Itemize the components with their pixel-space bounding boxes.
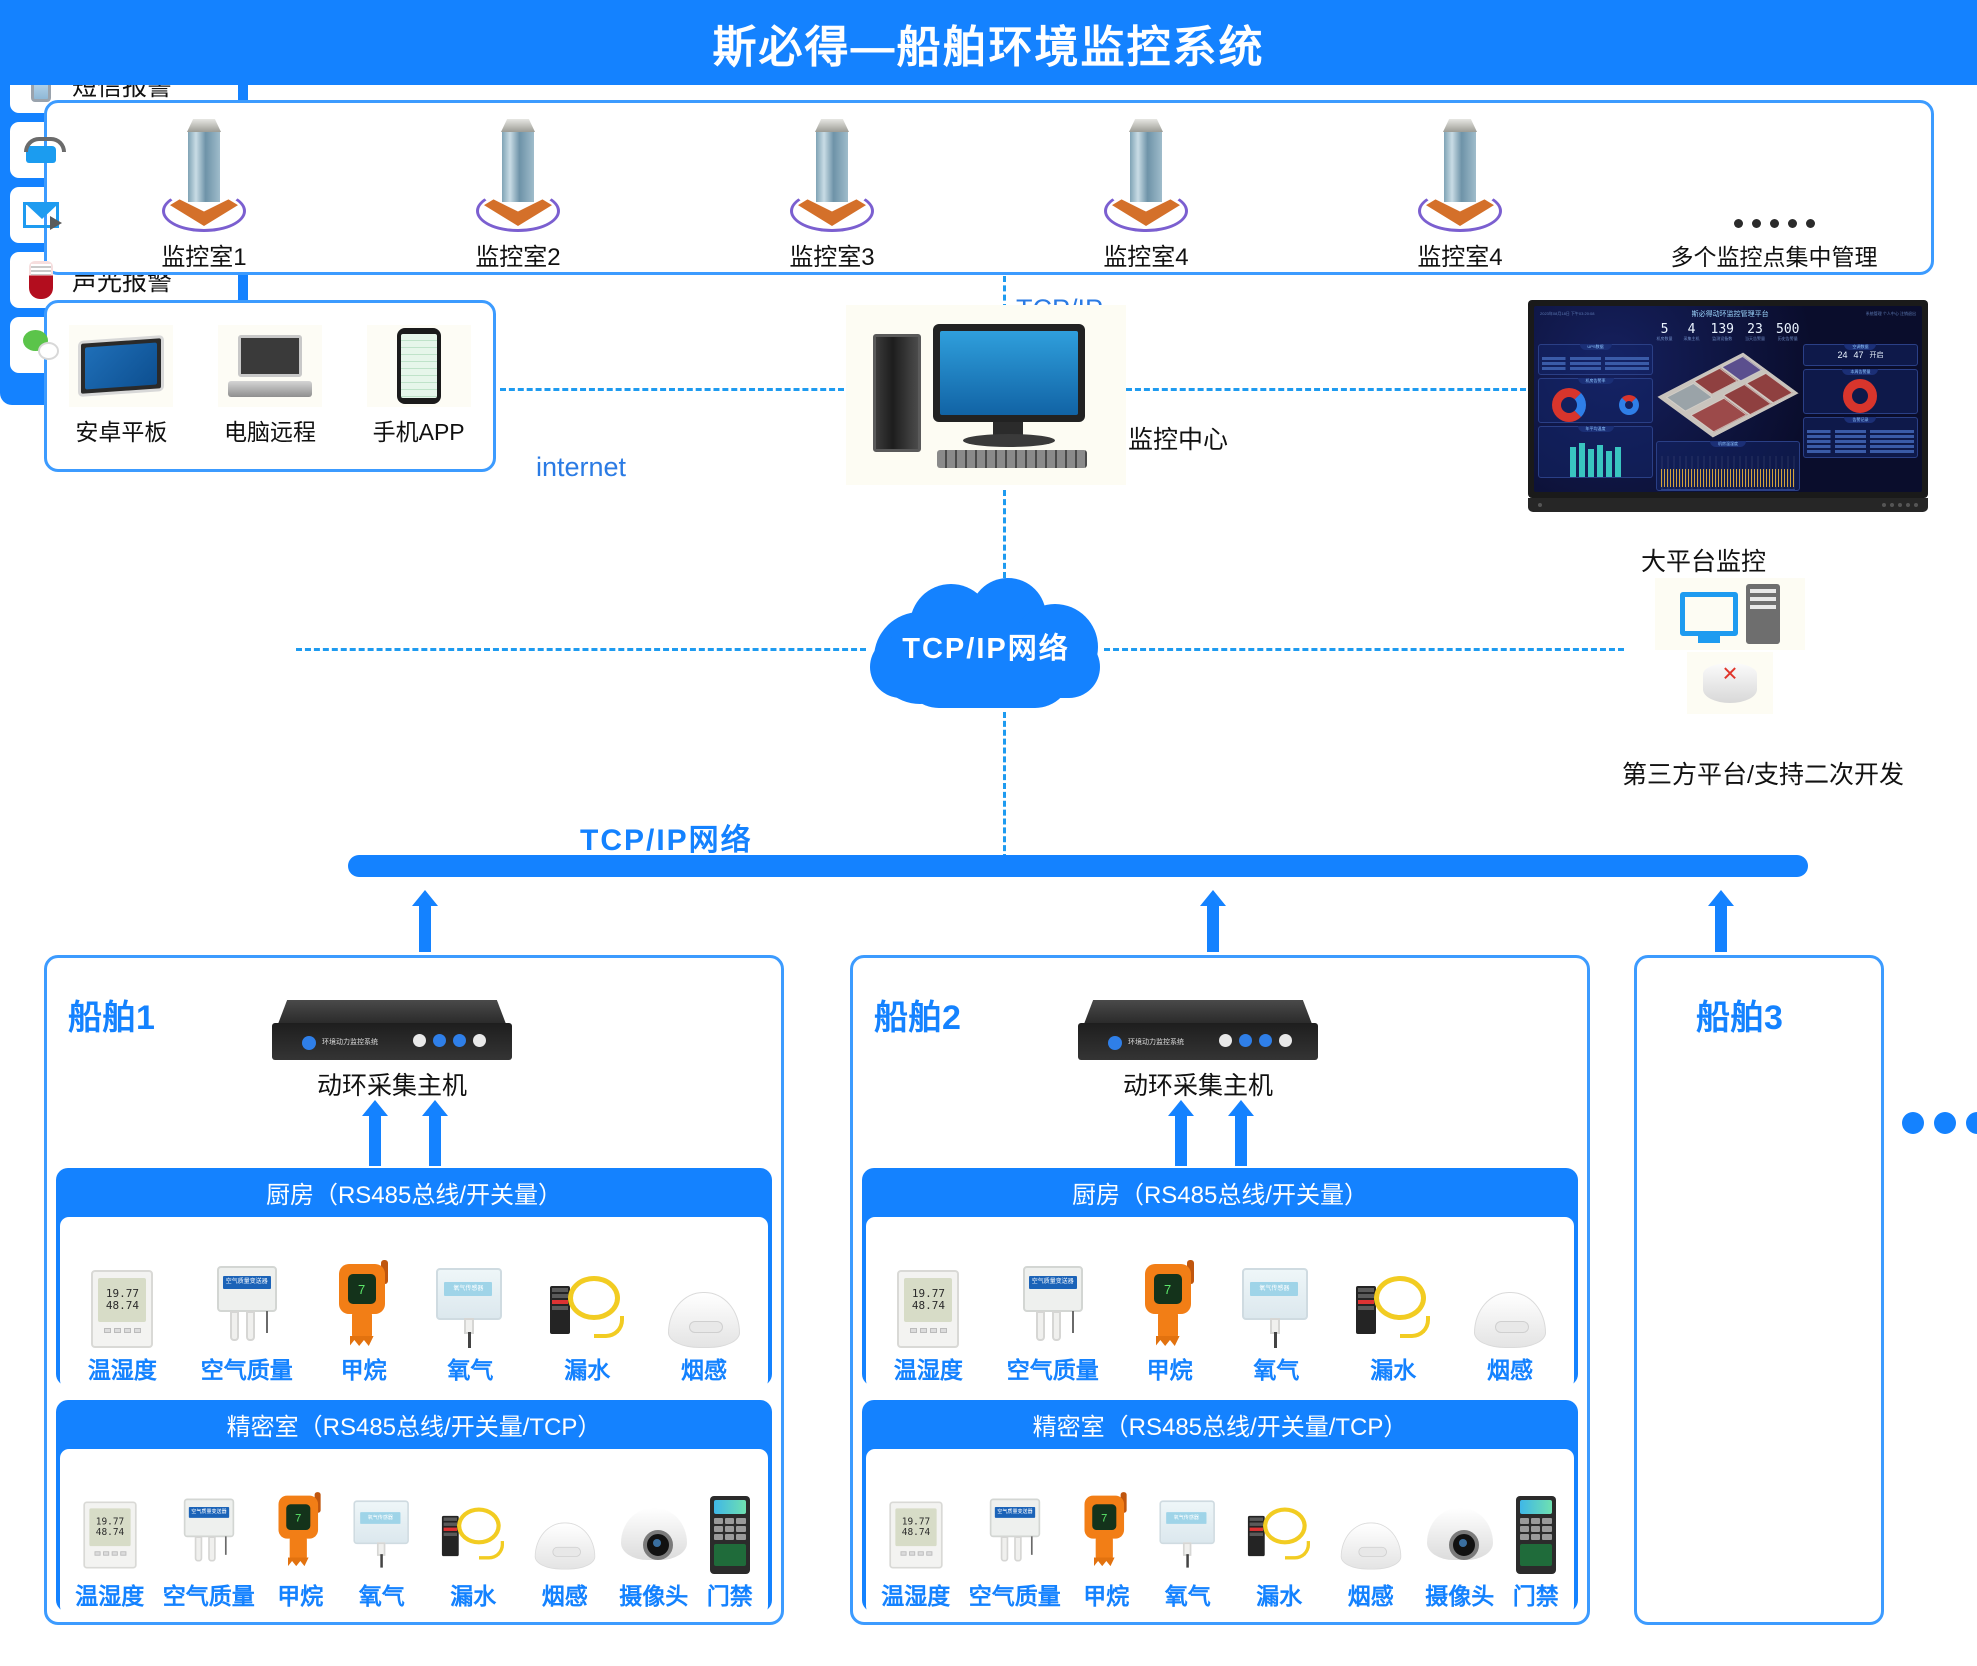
client-device-laptop[interactable]: 电脑远程 <box>207 325 332 447</box>
camera-icon <box>1427 1482 1493 1574</box>
access-control-icon <box>710 1482 750 1574</box>
oxygen-sensor-icon: 氧气传感器 <box>1152 1482 1224 1574</box>
water-leak-sensor-icon <box>550 1256 624 1348</box>
device-text: 氧气传感器 <box>360 1512 400 1524</box>
kpi-item: 23 当天告警量 <box>1745 323 1765 342</box>
dashboard-card-alarm-rate: 机房告警率 <box>1538 378 1653 423</box>
sensor-item[interactable]: 7 甲烷 <box>273 1482 327 1611</box>
card-title: 空调数据 <box>1844 344 1876 350</box>
ship-title: 船舶2 <box>874 990 961 1039</box>
sensor-label: 烟感 <box>681 1351 727 1385</box>
sensor-item[interactable]: 摄像头 <box>1425 1482 1494 1611</box>
sensor-label: 摄像头 <box>619 1577 688 1611</box>
monitor-rooms-panel: 监控室1 监控室2 监控室3 监控室4 监控室4 多个监控点集中管理 <box>44 100 1934 275</box>
ship-panel-3 <box>1634 955 1884 1625</box>
kpi-value: 5 <box>1657 323 1673 336</box>
tablet-icon <box>69 325 173 407</box>
card-title: 机房温湿度 <box>1710 441 1746 447</box>
sensor-item[interactable]: 漏水 <box>550 1256 624 1385</box>
monitor-room-label: 监控室4 <box>1417 237 1502 272</box>
oxygen-sensor-icon: 氧气传感器 <box>346 1482 418 1574</box>
connector-clients-to-center <box>500 388 844 391</box>
dashboard-header: 2023年08月18日 下午03:20:08 斯必得动环监控管理平台 系统管理 … <box>1534 306 1922 322</box>
connector-alarm-to-center <box>296 648 866 651</box>
kpi-value: 23 <box>1745 323 1765 336</box>
client-device-label: 手机APP <box>373 413 465 447</box>
monitor-icon <box>1680 592 1738 636</box>
sensor-label: 温湿度 <box>881 1577 950 1611</box>
kpi-label: 当天告警量 <box>1745 336 1765 342</box>
water-leak-sensor-icon <box>436 1482 510 1574</box>
dashboard-room-3d <box>1656 344 1800 438</box>
device-text: 氧气传感器 <box>444 1282 492 1296</box>
building-icon <box>470 128 566 233</box>
temp-humidity-sensor-icon: 19.77 48.74 <box>79 1482 141 1574</box>
client-device-label: 电脑远程 <box>224 413 316 447</box>
app-title-bar: 斯必得—船舶环境监控系统 <box>0 0 1977 85</box>
card-title: 本周告警量 <box>1842 369 1878 375</box>
sensor-label: 漏水 <box>450 1577 496 1611</box>
sensor-label: 甲烷 <box>341 1351 387 1385</box>
card-title: UPS数据 <box>1579 344 1611 350</box>
dashboard-center-column: 机房温湿度 <box>1656 344 1800 458</box>
sensor-label: 空气质量 <box>201 1351 293 1385</box>
third-party-label: 第三方平台/支持二次开发 <box>1563 755 1963 791</box>
sensor-label: 空气质量 <box>969 1577 1061 1611</box>
client-device-label: 安卓平板 <box>75 413 167 447</box>
card-title: 机房告警率 <box>1578 378 1614 384</box>
card-title: 年平均温度 <box>1578 426 1614 432</box>
dashboard-card-ups: UPS数据 <box>1538 344 1653 375</box>
smoke-detector-icon <box>529 1482 601 1574</box>
router-icon <box>1687 652 1773 714</box>
kpi-item: 5 机房数量 <box>1657 323 1673 342</box>
third-party-platform[interactable] <box>1635 578 1825 753</box>
ship-title: 船舶3 <box>1696 990 1783 1039</box>
sensor-item[interactable]: 烟感 <box>1474 1256 1546 1385</box>
monitor-room-item[interactable]: 监控室3 <box>675 103 989 272</box>
dashboard: 2023年08月18日 下午03:20:08 斯必得动环监控管理平台 系统管理 … <box>1534 306 1922 492</box>
monitor-room-label: 监控室4 <box>1103 237 1188 272</box>
temp-humidity-sensor-icon: 19.77 48.74 <box>897 1256 959 1348</box>
building-icon <box>1098 128 1194 233</box>
sensor-item[interactable]: 漏水 <box>436 1482 510 1611</box>
desktop-computer-icon <box>871 320 1101 470</box>
card-content <box>1804 418 1917 457</box>
connector-center-to-cloud <box>1003 490 1006 578</box>
camera-icon <box>621 1482 687 1574</box>
smoke-detector-icon <box>1474 1256 1546 1348</box>
client-device-tablet[interactable]: 安卓平板 <box>59 325 184 447</box>
connector-cloud-to-thirdparty <box>1104 648 1624 651</box>
access-control-icon <box>1516 1482 1556 1574</box>
air-quality-sensor-icon: 空气质量变送器 <box>214 1256 280 1348</box>
dashboard-card-week-alarm: 本周告警量 <box>1803 369 1918 414</box>
sensor-label: 门禁 <box>1513 1577 1559 1611</box>
oxygen-sensor-icon: 氧气传感器 <box>1240 1256 1312 1348</box>
dashboard-left-column: UPS数据 机房告警率 年平均温度 <box>1538 344 1653 458</box>
collector-host-icon: 环境动力监控系统 <box>272 1000 512 1062</box>
sensor-label: 漏水 <box>564 1351 610 1385</box>
sensor-item[interactable]: 门禁 <box>1513 1482 1559 1611</box>
sensor-item[interactable]: 氧气传感器 氧气 <box>1152 1482 1224 1611</box>
client-devices-panel: 安卓平板 电脑远程 手机APP <box>44 300 496 472</box>
device-text: 氧气传感器 <box>1250 1282 1298 1296</box>
kpi-value: 500 <box>1776 323 1799 336</box>
monitor-room-item[interactable]: 监控室4 <box>1303 103 1617 272</box>
device-text: 空气质量变送器 <box>995 1507 1035 1518</box>
dashboard-card-aircon: 空调数据 24 47 开启 <box>1803 344 1918 366</box>
server-workstation-icon <box>1655 578 1805 650</box>
collector-host-label: 动环采集主机 <box>1123 1066 1273 1102</box>
sensor-label: 甲烷 <box>1147 1351 1193 1385</box>
monitor-room-label: 监控室1 <box>161 237 246 272</box>
sensor-label: 温湿度 <box>894 1351 963 1385</box>
uplink-arrow-ship1 <box>412 890 438 952</box>
kpi-item: 4 采集主机 <box>1684 323 1700 342</box>
device-text: 空气质量变送器 <box>189 1507 229 1518</box>
connector-center-to-bigscreen <box>1126 388 1526 391</box>
sensor-group-precision-2: 精密室（RS485总线/开关量/TCP） 19.77 48.74 温湿度 空气质… <box>862 1400 1578 1612</box>
monitor-center-label: 监控中心 <box>1128 420 1228 456</box>
env-value: 47 <box>1853 350 1863 360</box>
dashboard-card-alarm-log: 告警记录 <box>1803 417 1918 458</box>
air-quality-sensor-icon: 空气质量变送器 <box>982 1482 1048 1574</box>
sensor-item[interactable]: 烟感 <box>1335 1482 1407 1611</box>
sensor-group-body: 19.77 48.74 温湿度 空气质量变送器 空气质量 7 甲烷 氧气传感器 … <box>866 1217 1574 1389</box>
sensor-group-body: 19.77 48.74 温湿度 空气质量变送器 空气质量 7 甲烷 氧气传感器 … <box>866 1449 1574 1615</box>
sensor-label: 温湿度 <box>75 1577 144 1611</box>
phone-icon <box>367 325 471 407</box>
water-leak-sensor-icon <box>1242 1482 1316 1574</box>
sensor-group-body: 19.77 48.74 温湿度 空气质量变送器 空气质量 7 甲烷 氧气传感器 … <box>60 1217 768 1389</box>
collector-host-1[interactable]: 环境动力监控系统 动环采集主机 <box>272 1000 512 1102</box>
ship-title: 船舶1 <box>68 990 155 1039</box>
monitor-room-item[interactable]: 监控室4 <box>989 103 1303 272</box>
air-quality-sensor-icon: 空气质量变送器 <box>176 1482 242 1574</box>
kpi-item: 500 历史告警量 <box>1776 323 1799 342</box>
card-content <box>1539 379 1652 422</box>
sensor-item[interactable]: 7 甲烷 <box>337 1256 391 1385</box>
sensor-label: 温湿度 <box>88 1351 157 1385</box>
ellipsis-dots-icon <box>1734 219 1815 228</box>
monitor-room-item[interactable]: 监控室2 <box>361 103 675 272</box>
collector-host-label: 动环采集主机 <box>317 1066 467 1102</box>
sensor-label: 甲烷 <box>1083 1577 1129 1611</box>
building-icon <box>784 128 880 233</box>
sensor-item[interactable]: 烟感 <box>529 1482 601 1611</box>
sensor-group-kitchen-1: 厨房（RS485总线/开关量） 19.77 48.74 温湿度 空气质量变送器 … <box>56 1168 772 1386</box>
monitor-room-label: 监控室2 <box>475 237 560 272</box>
sensor-item[interactable]: 19.77 48.74 温湿度 <box>894 1256 963 1385</box>
kpi-label: 历史告警量 <box>1776 336 1799 342</box>
sensor-item[interactable]: 摄像头 <box>619 1482 688 1611</box>
smoke-detector-icon <box>1335 1482 1407 1574</box>
card-content <box>1539 441 1652 477</box>
sensor-label: 甲烷 <box>277 1577 323 1611</box>
collector-host-2[interactable]: 环境动力监控系统 动环采集主机 <box>1078 1000 1318 1102</box>
sensor-item[interactable]: 空气质量变送器 空气质量 <box>163 1482 255 1611</box>
card-content <box>1661 456 1795 490</box>
monitor-room-label: 监控室3 <box>789 237 874 272</box>
temp-humidity-sensor-icon: 19.77 48.74 <box>91 1256 153 1348</box>
sensor-item[interactable]: 烟感 <box>668 1256 740 1385</box>
internet-label: internet <box>536 452 626 483</box>
sensor-label: 烟感 <box>1348 1577 1394 1611</box>
sensor-item[interactable]: 漏水 <box>1356 1256 1430 1385</box>
multi-site-label: 多个监控点集中管理 <box>1671 238 1878 272</box>
dashboard-kpi-row: 5 机房数量 4 采集主机 139 监测设备数 23 当天告警量 500 历 <box>1534 323 1922 342</box>
collector-host-icon: 环境动力监控系统 <box>1078 1000 1318 1062</box>
more-ships-ellipsis-icon <box>1902 1112 1977 1134</box>
env-value: 24 <box>1837 350 1847 360</box>
methane-detector-icon: 7 <box>337 1256 391 1348</box>
sensor-label: 门禁 <box>707 1577 753 1611</box>
bus-label: TCP/IP网络 <box>580 815 753 859</box>
air-quality-sensor-icon: 空气质量变送器 <box>1020 1256 1086 1348</box>
building-icon <box>156 128 252 233</box>
temp-humidity-sensor-icon: 19.77 48.74 <box>885 1482 947 1574</box>
monitor-room-item[interactable]: 监控室1 <box>47 103 361 272</box>
sensor-item[interactable]: 19.77 48.74 温湿度 <box>881 1482 950 1611</box>
dashboard-card-year-temp: 年平均温度 <box>1538 426 1653 478</box>
sensor-item[interactable]: 7 甲烷 <box>1079 1482 1133 1611</box>
monitor-center-icon[interactable] <box>846 305 1126 485</box>
dashboard-title: 斯必得动环监控管理平台 <box>1692 309 1769 319</box>
sensor-group-precision-1: 精密室（RS485总线/开关量/TCP） 19.77 48.74 温湿度 空气质… <box>56 1400 772 1612</box>
multi-site-note: 多个监控点集中管理 <box>1617 103 1931 272</box>
dashboard-right-column: 空调数据 24 47 开启 本周告警量 告警记录 <box>1803 344 1918 458</box>
dashboard-card-room-temp: 机房温湿度 <box>1656 441 1800 491</box>
sensor-item[interactable]: 漏水 <box>1242 1482 1316 1611</box>
kpi-label: 机房数量 <box>1657 336 1673 342</box>
sensor-label: 漏水 <box>1256 1577 1302 1611</box>
tcpip-bus-line <box>348 855 1808 877</box>
device-text: 空气质量变送器 <box>223 1276 271 1289</box>
kpi-value: 4 <box>1684 323 1700 336</box>
sensor-label: 氧气 <box>359 1577 405 1611</box>
connector-cloud-to-bus <box>1003 712 1006 860</box>
sensor-label: 氧气 <box>1165 1577 1211 1611</box>
page-title: 斯必得—船舶环境监控系统 <box>713 11 1265 75</box>
cloud-label: TCP/IP网络 <box>866 576 1106 716</box>
kpi-label: 采集主机 <box>1684 336 1700 342</box>
sensor-group-title: 精密室（RS485总线/开关量/TCP） <box>60 1404 768 1449</box>
sensor-label: 氧气 <box>447 1351 493 1385</box>
sensor-item[interactable]: 空气质量变送器 空气质量 <box>201 1256 293 1385</box>
card-content <box>1804 370 1917 413</box>
tcpip-cloud: TCP/IP网络 <box>866 576 1106 716</box>
sensor-item[interactable]: 门禁 <box>707 1482 753 1611</box>
kpi-item: 139 监测设备数 <box>1711 323 1734 342</box>
client-device-phone[interactable]: 手机APP <box>356 325 481 447</box>
sensor-item[interactable]: 空气质量变送器 空气质量 <box>969 1482 1061 1611</box>
smoke-detector-icon <box>668 1256 740 1348</box>
screen-frame: 2023年08月18日 下午03:20:08 斯必得动环监控管理平台 系统管理 … <box>1528 300 1928 498</box>
sensor-label: 烟感 <box>542 1577 588 1611</box>
env-value: 开启 <box>1869 350 1883 360</box>
uplink-arrow-ship3 <box>1708 890 1734 952</box>
big-platform-screen[interactable]: 2023年08月18日 下午03:20:08 斯必得动环监控管理平台 系统管理 … <box>1528 300 1928 528</box>
sensor-group-kitchen-2: 厨房（RS485总线/开关量） 19.77 48.74 温湿度 空气质量变送器 … <box>862 1168 1578 1386</box>
methane-detector-icon: 7 <box>273 1482 327 1574</box>
sensor-item[interactable]: 氧气传感器 氧气 <box>1240 1256 1312 1385</box>
laptop-icon <box>218 325 322 407</box>
building-icon <box>1412 128 1508 233</box>
methane-detector-icon: 7 <box>1079 1482 1133 1574</box>
kpi-label: 监测设备数 <box>1711 336 1734 342</box>
sensor-label: 氧气 <box>1253 1351 1299 1385</box>
sensor-item[interactable]: 19.77 48.74 温湿度 <box>88 1256 157 1385</box>
device-text: 氧气传感器 <box>1166 1512 1206 1524</box>
sensor-label: 空气质量 <box>1007 1351 1099 1385</box>
sensor-label: 空气质量 <box>163 1577 255 1611</box>
dashboard-topright-menu[interactable]: 系统管理 个人中心 注销退出 <box>1866 311 1916 317</box>
sensor-group-title: 精密室（RS485总线/开关量/TCP） <box>866 1404 1574 1449</box>
sensor-group-body: 19.77 48.74 温湿度 空气质量变送器 空气质量 7 甲烷 氧气传感器 … <box>60 1449 768 1615</box>
methane-detector-icon: 7 <box>1143 1256 1197 1348</box>
server-icon <box>1746 584 1780 644</box>
sensor-item[interactable]: 氧气传感器 氧气 <box>346 1482 418 1611</box>
lcd-humidity: 48.74 <box>902 1527 930 1537</box>
lcd-humidity: 48.74 <box>912 1300 945 1312</box>
oxygen-sensor-icon: 氧气传感器 <box>434 1256 506 1348</box>
dashboard-timestamp: 2023年08月18日 下午03:20:08 <box>1540 311 1594 317</box>
sensor-item[interactable]: 7 甲烷 <box>1143 1256 1197 1385</box>
sensor-label: 漏水 <box>1370 1351 1416 1385</box>
sensor-group-title: 厨房（RS485总线/开关量） <box>60 1172 768 1217</box>
water-leak-sensor-icon <box>1356 1256 1430 1348</box>
uplink-arrow-ship2 <box>1200 890 1226 952</box>
card-title: 告警记录 <box>1844 417 1876 423</box>
big-platform-label: 大平台监控 <box>1641 542 1766 578</box>
lcd-humidity: 48.74 <box>96 1527 124 1537</box>
sensor-item[interactable]: 氧气传感器 氧气 <box>434 1256 506 1385</box>
kpi-value: 139 <box>1711 323 1734 336</box>
sensor-item[interactable]: 空气质量变送器 空气质量 <box>1007 1256 1099 1385</box>
sensor-item[interactable]: 19.77 48.74 温湿度 <box>75 1482 144 1611</box>
sensor-label: 烟感 <box>1487 1351 1533 1385</box>
wechat-icon <box>20 324 62 366</box>
sensor-group-title: 厨房（RS485总线/开关量） <box>866 1172 1574 1217</box>
dashboard-body: UPS数据 机房告警率 年平均温度 <box>1534 342 1922 460</box>
room-3d-model-icon <box>1657 353 1798 438</box>
device-text: 空气质量变送器 <box>1029 1276 1077 1289</box>
lcd-humidity: 48.74 <box>106 1300 139 1312</box>
screen-base <box>1528 498 1928 512</box>
sensor-label: 摄像头 <box>1425 1577 1494 1611</box>
